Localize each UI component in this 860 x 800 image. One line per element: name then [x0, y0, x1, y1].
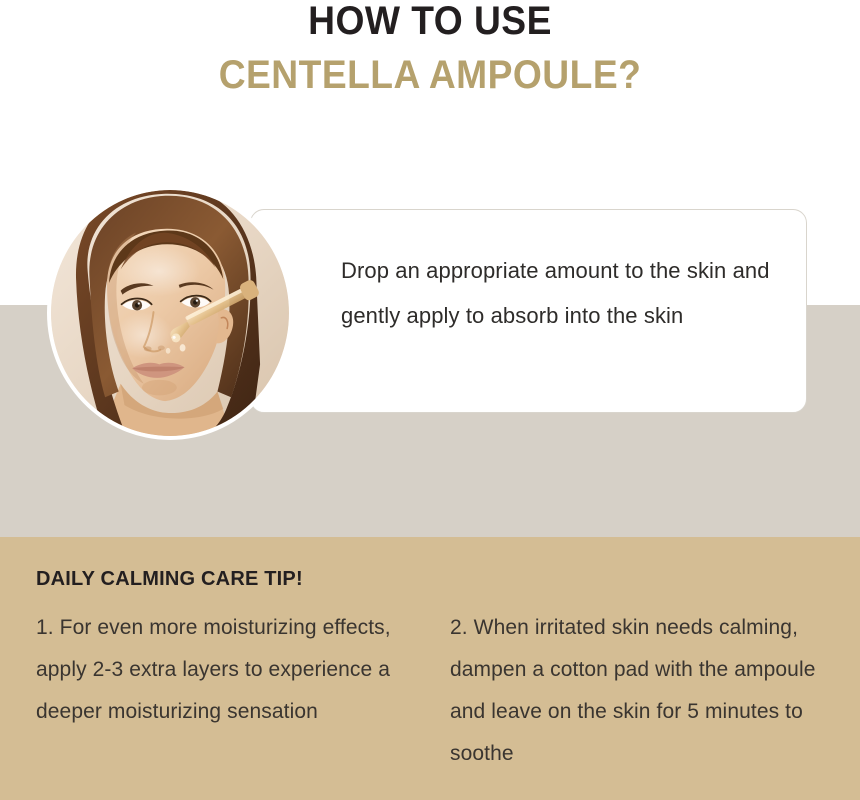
- model-photo-illustration: [51, 190, 289, 436]
- instruction-card: Drop an appropriate amount to the skin a…: [250, 209, 807, 413]
- daily-care-tip-item-2: 2. When irritated skin needs calming, da…: [450, 607, 836, 775]
- daily-care-tip-item-1: 1. For even more moisturizing effects, a…: [36, 607, 414, 775]
- daily-care-tip-columns: 1. For even more moisturizing effects, a…: [36, 607, 836, 775]
- page-title-line-1: HOW TO USE: [30, 0, 830, 44]
- model-photo-image: [51, 190, 289, 436]
- daily-care-tip-heading: DAILY CALMING CARE TIP!: [36, 568, 303, 591]
- infographic-page: HOW TO USE CENTELLA AMPOULE? Drop an app…: [0, 0, 860, 800]
- daily-care-tip-section: DAILY CALMING CARE TIP! 1. For even more…: [0, 537, 860, 800]
- model-photo-circle: [47, 186, 293, 440]
- page-title-line-2: CENTELLA AMPOULE?: [30, 52, 830, 98]
- instruction-card-text: Drop an appropriate amount to the skin a…: [341, 248, 781, 338]
